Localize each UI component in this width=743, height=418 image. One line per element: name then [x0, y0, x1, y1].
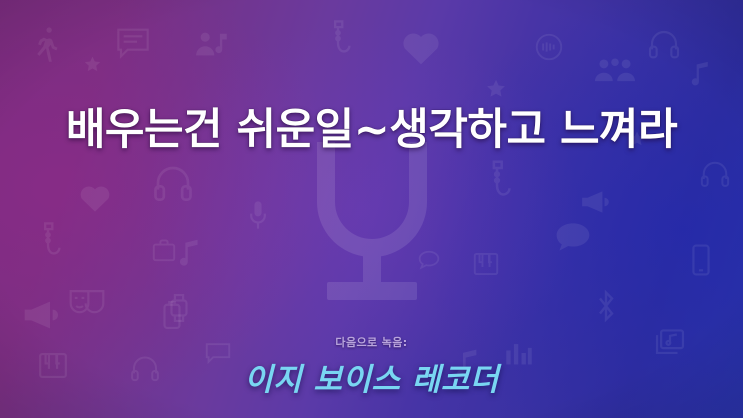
watch-icon [168, 293, 190, 323]
people-group-icon [595, 57, 635, 83]
recording-footer: 다음으로 녹음: 이지 보이스 레코더 [0, 335, 743, 400]
star-icon [83, 55, 102, 74]
person-music-icon [195, 28, 229, 60]
briefcase-icon [152, 238, 176, 262]
battery-icon [162, 300, 182, 330]
headphones-icon [152, 163, 194, 203]
app-name-label: 이지 보이스 레코더 [0, 360, 743, 400]
headphones-icon [700, 160, 730, 188]
vinyl-record-icon [535, 33, 563, 61]
running-person-icon [30, 22, 64, 62]
speech-bubble-icon [115, 27, 151, 59]
theater-masks-icon [68, 285, 106, 319]
star-icon [485, 78, 507, 100]
music-note-icon [178, 238, 200, 266]
bluetooth-icon [592, 288, 620, 324]
saxophone-icon [35, 222, 61, 262]
recorder-overlay-screen: 배우는건 쉬운일~생각하고 느껴라 다음으로 녹음: 이지 보이스 레코더 [0, 0, 743, 418]
heart-icon [400, 28, 442, 66]
microphone-icon [248, 200, 268, 230]
smartphone-icon [690, 243, 712, 277]
recording-status-label: 다음으로 녹음: [0, 335, 743, 351]
music-note-icon [690, 60, 710, 86]
chat-icon [555, 222, 591, 252]
chat-icon [418, 250, 440, 270]
microphone-icon [297, 132, 447, 308]
saxophone-icon [325, 20, 351, 60]
megaphone-icon [22, 300, 62, 330]
piano-icon [473, 252, 499, 276]
saxophone-icon [483, 160, 511, 204]
headphones-icon [648, 28, 680, 60]
heart-icon [78, 182, 112, 213]
page-title: 배우는건 쉬운일~생각하고 느껴라 [0, 104, 743, 156]
megaphone-icon [580, 190, 612, 214]
